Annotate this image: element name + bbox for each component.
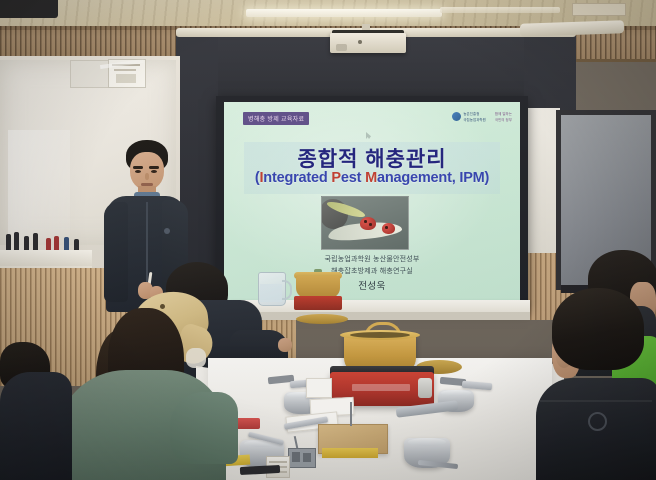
title-plain-text: est	[341, 170, 365, 186]
presenter-jacket-logo	[164, 228, 170, 234]
slide-title-plate: 종합적 해충관리 (Integrated Pest Management, IP…	[244, 142, 500, 194]
scissors-icon	[14, 232, 19, 252]
presenter-nose	[145, 173, 149, 180]
rda-logo-text: 농촌진흥청 국립농업과학원	[463, 111, 486, 122]
presenter-eye-right	[151, 170, 157, 173]
ladybug-icon	[360, 217, 376, 230]
brass-pot-interior	[350, 332, 410, 338]
slide-logo-group: 농촌진흥청 국립농업과학원 함께 일하는 국민의 정부	[452, 111, 512, 122]
ceiling-vent-right	[572, 3, 626, 16]
presenter-shoulder-left	[104, 202, 128, 302]
presenter-eyebrow-right	[149, 166, 159, 169]
specimen-item	[303, 453, 311, 462]
back-table-edge	[230, 312, 530, 320]
affiliation-line-1: 국립농업과학원 농산물안전성부	[224, 254, 520, 266]
gov-logo: 함께 일하는 국민의 정부	[495, 111, 512, 122]
title-highlight-letter: P	[331, 170, 340, 186]
title-highlight-letter: M	[365, 170, 377, 186]
title-plain-text: ntegrated	[263, 170, 331, 186]
gov-logo-line-2: 국민의 정부	[495, 117, 512, 122]
specimen-card	[288, 448, 316, 468]
gov-logo-text: 함께 일하는 국민의 정부	[495, 111, 512, 122]
rda-logo: 농촌진흥청 국립농업과학원	[452, 111, 486, 122]
cap-emblem-icon	[160, 304, 165, 309]
photograph-scene: 병해충 방제 교육자료 농촌진흥청 국립농업과학원 함께 일하는 국민의 정부 …	[0, 0, 656, 480]
fluorescent-light-strip	[246, 9, 442, 17]
red-package	[236, 418, 260, 429]
ladybug-icon	[382, 223, 395, 234]
projector-lens	[336, 44, 347, 51]
projected-slide: 병해충 방제 교육자료 농촌진흥청 국립농업과학원 함께 일하는 국민의 정부 …	[224, 102, 520, 300]
slide-category-badge: 병해충 방제 교육자료	[243, 112, 309, 125]
jacket-logo-icon	[588, 412, 607, 431]
back-portable-gas-stove	[294, 296, 342, 310]
title-plain-text: anagement, IPM)	[377, 170, 489, 186]
specimen-item	[292, 452, 300, 462]
pitcher-water	[260, 284, 282, 302]
notice-line-2	[114, 69, 136, 71]
pinning-board-foam	[322, 448, 378, 458]
slide-title-korean: 종합적 해충관리	[244, 143, 500, 173]
ceiling-vent-left	[0, 0, 58, 18]
attendee-green-hoodie-sleeve	[170, 392, 238, 464]
rda-logo-mark-icon	[452, 112, 461, 121]
presenter-eyebrow-left	[133, 166, 143, 169]
face-mask	[186, 348, 206, 368]
presenter-eye-left	[135, 170, 141, 173]
ladybug-spot	[385, 226, 388, 229]
back-brass-pot	[296, 276, 340, 298]
fluorescent-light-strip-secondary	[440, 7, 560, 13]
gas-stove-knob[interactable]	[418, 378, 432, 398]
attendee-dark-jacket-hand	[278, 338, 292, 352]
attendee-right-hair	[552, 288, 644, 370]
attendee-left-edge	[0, 372, 72, 480]
slide-photo-ladybugs	[321, 196, 409, 250]
rda-logo-line-1: 농촌진흥청	[463, 111, 486, 116]
box-line	[269, 461, 287, 463]
paper-sheet	[306, 378, 332, 398]
slide-title-english: (Integrated Pest Management, IPM)	[244, 170, 500, 186]
ladybug-spot	[364, 220, 367, 223]
ladybug-spot	[369, 223, 372, 226]
spare-pot-lid	[296, 314, 348, 324]
notice-box	[116, 74, 136, 83]
rda-logo-line-2: 국립농업과학원	[463, 117, 486, 122]
gov-logo-line-1: 함께 일하는	[495, 111, 512, 116]
puffer-seam	[540, 400, 652, 402]
projector-led-icon	[358, 40, 362, 44]
gas-stove-brand-label	[352, 384, 410, 391]
insect-pin	[350, 402, 352, 426]
tool-rack	[2, 232, 86, 252]
